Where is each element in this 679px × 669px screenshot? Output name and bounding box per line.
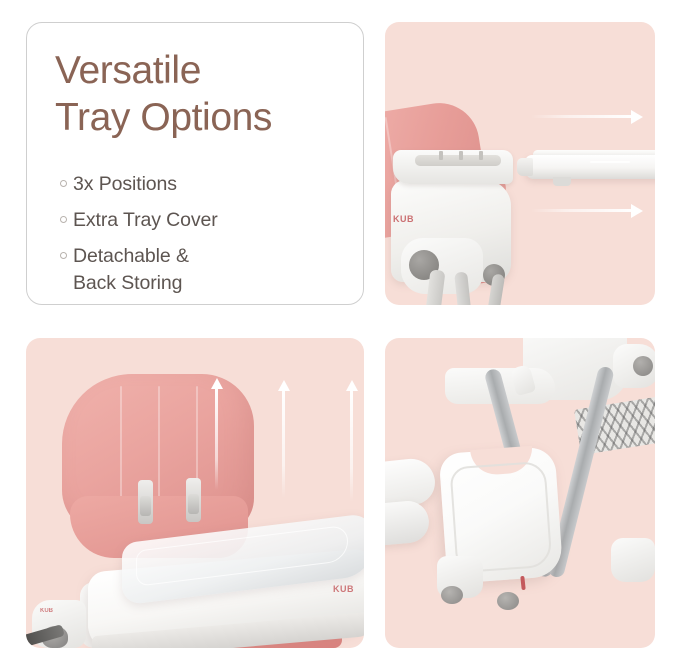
arrow-right-icon <box>531 204 643 217</box>
feature-text-card: Versatile Tray Options 3x Positions Extr… <box>26 22 364 305</box>
photo-panel-back-storage <box>385 338 655 648</box>
detached-tray <box>525 155 655 179</box>
feature-list: 3x Positions Extra Tray Cover Detachable… <box>53 171 353 305</box>
caster-wheel <box>497 592 519 610</box>
arrow-right-icon <box>531 110 643 123</box>
list-item: Extra Tray Cover <box>53 207 353 234</box>
rail-notch <box>479 151 483 160</box>
tray-slide-rail <box>415 155 501 166</box>
product-illustration-tray-detach: KUB <box>385 22 655 305</box>
harness-buckle <box>138 480 153 524</box>
rail-notch <box>439 151 443 160</box>
foreground-tray-edge <box>385 499 431 550</box>
brand-logo: KUB <box>333 584 354 594</box>
list-item-label: Extra Tray Cover <box>73 207 218 234</box>
rail-notch <box>459 151 463 160</box>
arrow-up-icon <box>345 380 358 502</box>
tray-groove <box>590 161 630 163</box>
list-item-label: 3x Positions <box>73 171 177 198</box>
list-item-label: Detachable & Back Storing <box>73 243 189 297</box>
harness-buckle <box>186 478 201 522</box>
page-title: Versatile Tray Options <box>55 47 345 141</box>
product-illustration-tray-cover: KUB KUB <box>26 338 364 648</box>
brand-logo: KUB <box>393 214 414 224</box>
caster-wheel <box>441 586 463 604</box>
chair-foot <box>611 538 655 582</box>
brand-logo-small: KUB <box>40 608 53 614</box>
detached-tray-clip <box>553 177 571 186</box>
list-item: 3x Positions <box>53 171 353 198</box>
list-item: Detachable & Back Storing <box>53 243 353 297</box>
product-illustration-back-storage <box>385 338 655 648</box>
hollow-circle-icon <box>53 171 73 187</box>
infographic-board: Versatile Tray Options 3x Positions Extr… <box>0 0 679 669</box>
arrow-up-icon <box>210 378 223 490</box>
hollow-circle-icon <box>53 207 73 223</box>
hollow-circle-icon <box>53 243 73 259</box>
detached-tray-lip <box>517 158 533 176</box>
photo-panel-tray-detach: KUB <box>385 22 655 305</box>
photo-panel-tray-cover: KUB KUB <box>26 338 364 648</box>
adjust-knob <box>633 356 653 376</box>
arrow-up-icon <box>277 380 290 498</box>
